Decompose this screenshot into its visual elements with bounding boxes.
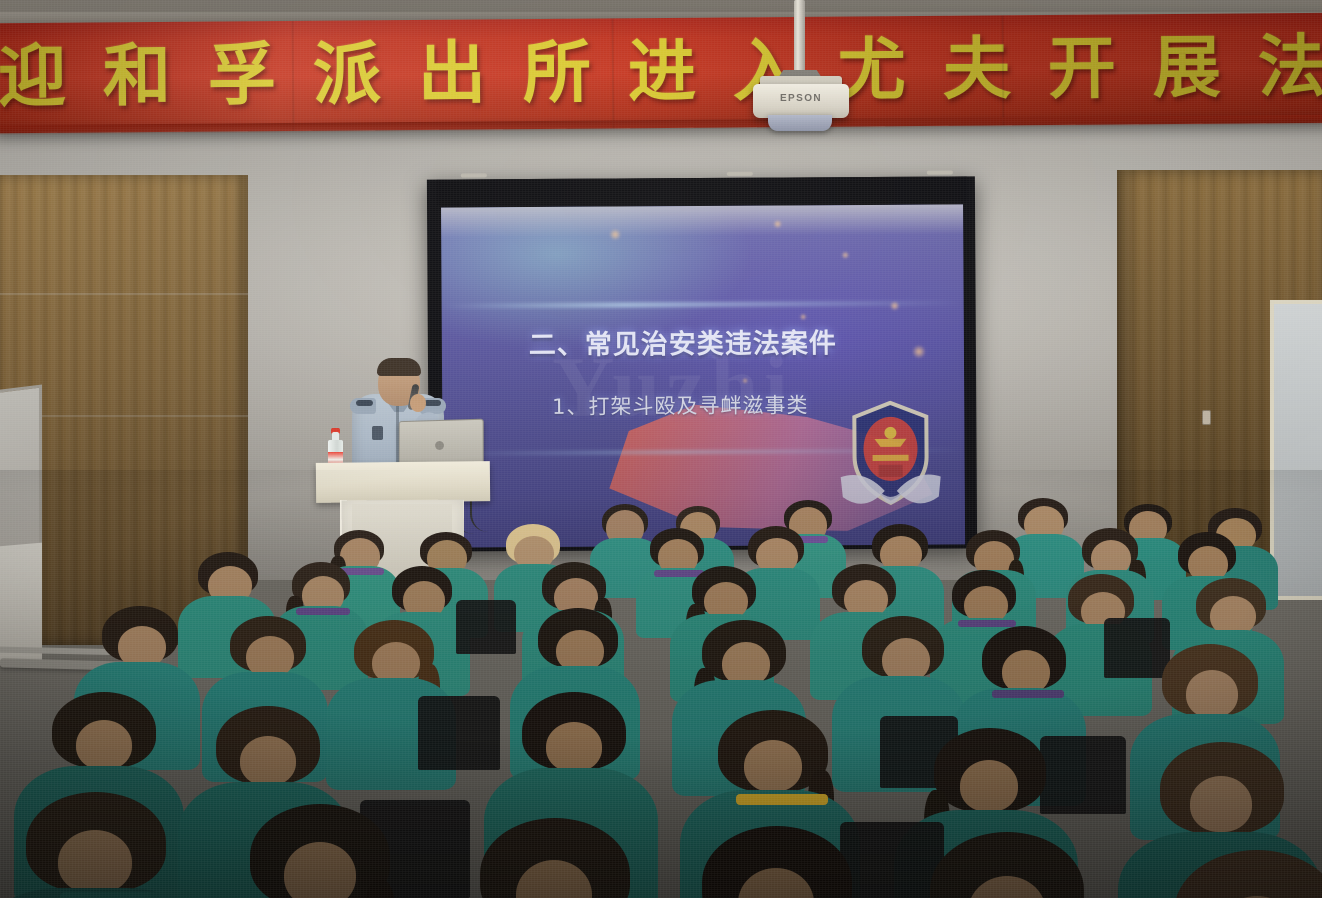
banner-char-2: 孚	[208, 42, 277, 111]
officer-epaulette-right	[424, 400, 441, 406]
banner-text: 迎 和 孚 派 出 所 进 入 尤 夫 开 展 法	[0, 13, 1322, 134]
banner-char-4: 出	[418, 40, 487, 109]
banner-char-5: 所	[523, 40, 592, 109]
officer-epaulette-left	[356, 400, 373, 406]
officer-hand	[410, 394, 426, 412]
audience-seating	[0, 470, 1322, 898]
ceiling-shadow	[0, 0, 1322, 12]
projector-lens	[768, 115, 832, 131]
banner-char-1: 和	[103, 43, 172, 112]
projector-body: EPSON	[753, 84, 849, 118]
slide-title: 二、常见治安类违法案件	[442, 320, 964, 362]
light-switch[interactable]	[1202, 410, 1211, 425]
ceiling-projector: EPSON	[748, 0, 858, 128]
projector-mount-pole	[794, 0, 805, 78]
banner-char-6: 进	[628, 39, 697, 108]
red-welcome-banner: 迎 和 孚 派 出 所 进 入 尤 夫 开 展 法	[0, 13, 1322, 134]
banner-char-12: 法	[1258, 34, 1322, 103]
banner-char-0: 迎	[0, 44, 66, 113]
photo-scene: 迎 和 孚 派 出 所 进 入 尤 夫 开 展 法 EPSON	[0, 0, 1322, 898]
screen-top-bar	[437, 176, 967, 205]
officer-hair	[377, 358, 421, 376]
banner-char-3: 派	[313, 41, 382, 110]
projector-brand-label: EPSON	[753, 93, 849, 104]
banner-char-11: 展	[1153, 35, 1222, 104]
banner-char-10: 开	[1048, 35, 1117, 104]
officer-chest-badge	[372, 426, 383, 440]
